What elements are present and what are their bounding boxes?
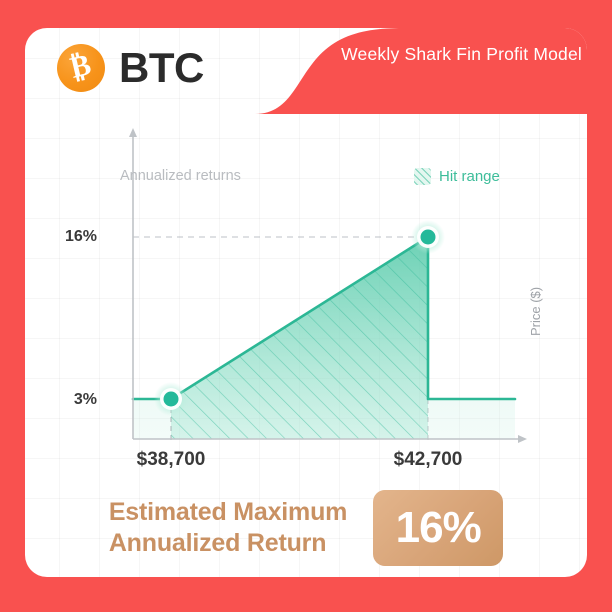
bitcoin-glyph: ₿	[68, 50, 94, 84]
x-axis-title: Price ($)	[528, 287, 543, 336]
result-label-line1: Estimated Maximum	[109, 497, 347, 528]
x-tick-label-low: $38,700	[137, 449, 206, 471]
bitcoin-coin-icon: ₿	[57, 44, 105, 92]
chart-area: Annualized returns Price ($) Hit range 1…	[25, 124, 587, 464]
result-label: Estimated Maximum Annualized Return	[109, 497, 347, 560]
brand-row: ₿ BTC	[57, 44, 204, 92]
y-tick-label-high: 16%	[53, 228, 97, 246]
x-tick-label-high: $42,700	[394, 449, 463, 471]
result-panel: Estimated Maximum Annualized Return 16%	[25, 480, 587, 576]
chart-legend: Hit range	[414, 168, 500, 185]
result-value-badge: 16%	[373, 490, 503, 566]
result-value: 16%	[396, 506, 481, 550]
info-card: ₿ BTC	[25, 28, 587, 577]
legend-label-hit-range: Hit range	[439, 168, 500, 185]
poster-background: Weekly Shark Fin Profit Model ₿ BTC	[0, 0, 612, 612]
brand-symbol: BTC	[119, 47, 204, 89]
banner-title: Weekly Shark Fin Profit Model	[341, 44, 582, 65]
shark-fin-chart	[25, 124, 587, 464]
result-label-line2: Annualized Return	[109, 528, 347, 559]
hit-range-swatch-icon	[414, 168, 431, 185]
y-axis-title: Annualized returns	[120, 168, 241, 184]
y-tick-label-low: 3%	[53, 391, 97, 409]
